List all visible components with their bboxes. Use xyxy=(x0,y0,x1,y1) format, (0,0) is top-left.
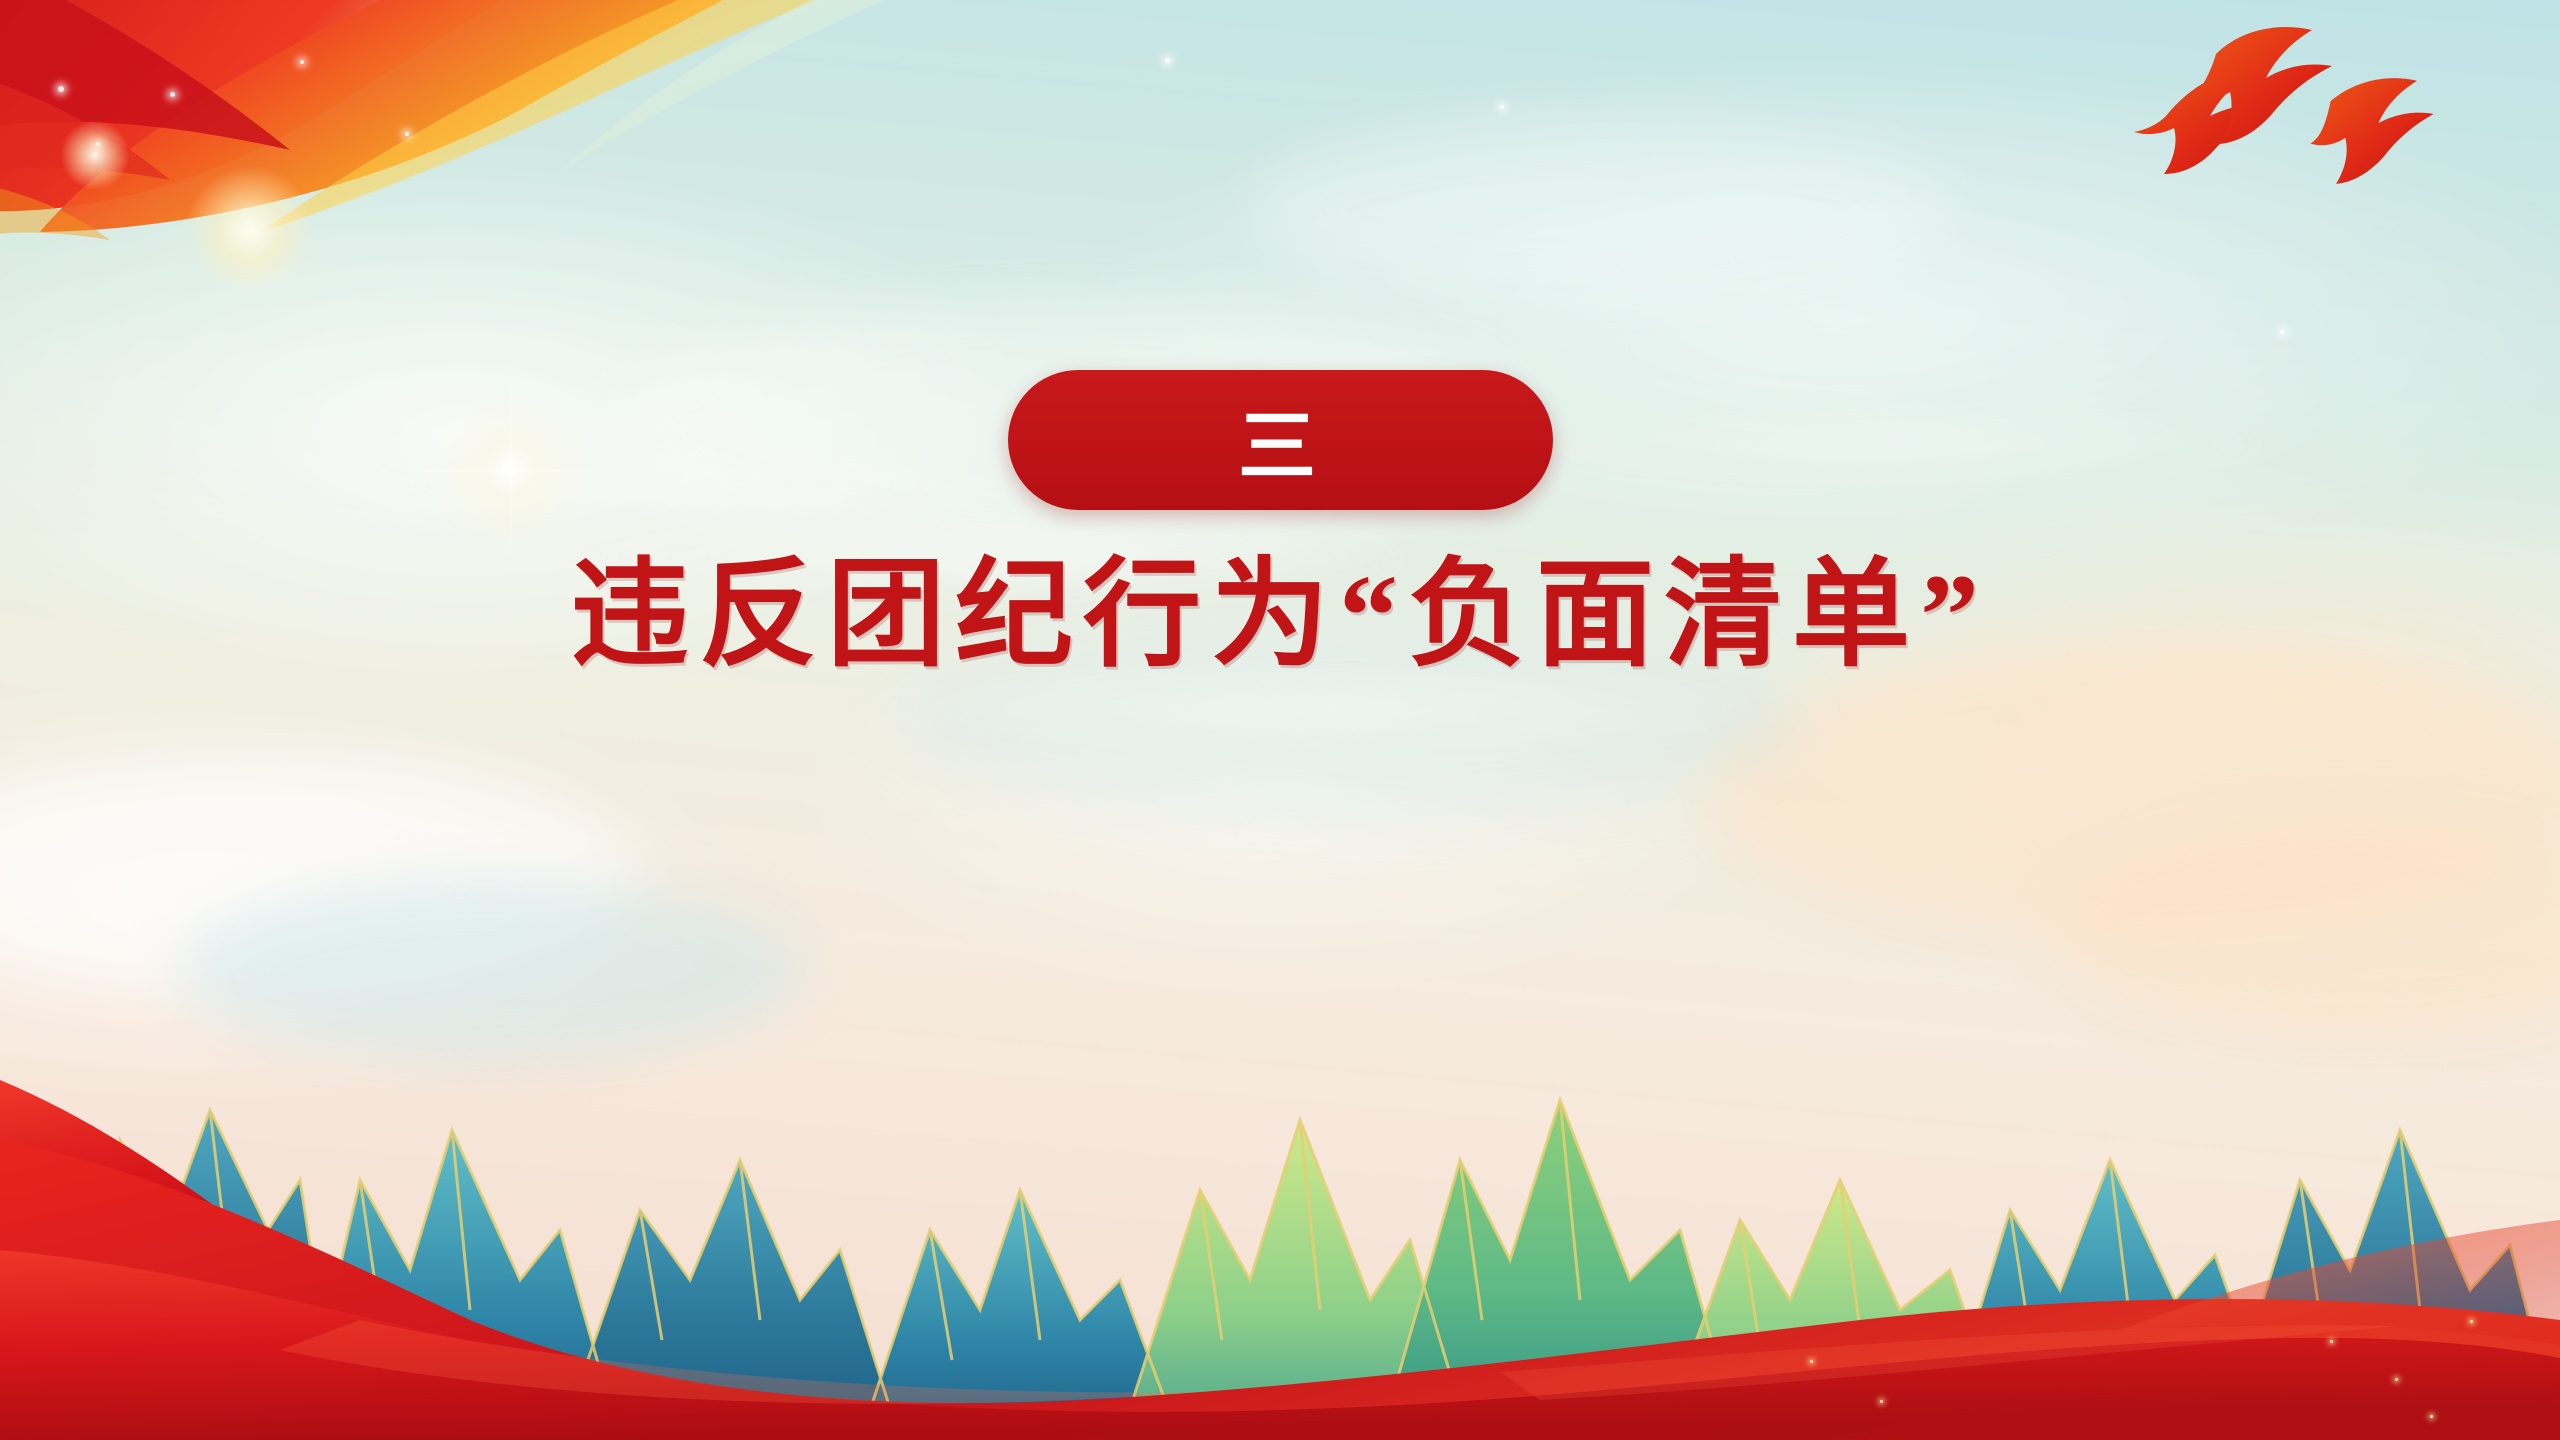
sparkle-icon xyxy=(1810,1360,1813,1363)
sparkle-icon xyxy=(170,92,175,97)
page-title: 违反团纪行为“负面清单” xyxy=(0,546,2560,685)
sparkle-icon xyxy=(1500,105,1504,109)
ribbon-burst-icon xyxy=(0,0,1210,350)
cloud-icon xyxy=(1250,120,1950,300)
sparkle-icon xyxy=(2330,1340,2333,1343)
section-number-badge: 三 xyxy=(1008,370,1553,510)
sparkle-icon xyxy=(2430,1415,2433,1418)
sparkle-icon xyxy=(405,132,409,136)
dove-icon xyxy=(2070,20,2470,260)
cloud-streak-icon xyxy=(820,690,1820,724)
sparkle-icon xyxy=(58,86,64,92)
section-number-text: 三 xyxy=(1238,384,1322,496)
presentation-slide: 三 违反团纪行为“负面清单” xyxy=(0,0,2560,1440)
sparkle-icon xyxy=(1165,58,1170,63)
lens-flare-icon xyxy=(60,120,130,190)
sparkle-icon xyxy=(300,60,304,64)
red-silk-icon xyxy=(0,1020,2560,1440)
lens-flare-icon xyxy=(185,165,315,295)
sparkle-icon xyxy=(2280,330,2284,334)
title-block: 三 违反团纪行为“负面清单” xyxy=(0,370,2560,685)
sparkle-icon xyxy=(1880,1400,1883,1403)
sparkle-icon xyxy=(2470,1320,2473,1323)
sparkle-icon xyxy=(2395,1378,2398,1381)
